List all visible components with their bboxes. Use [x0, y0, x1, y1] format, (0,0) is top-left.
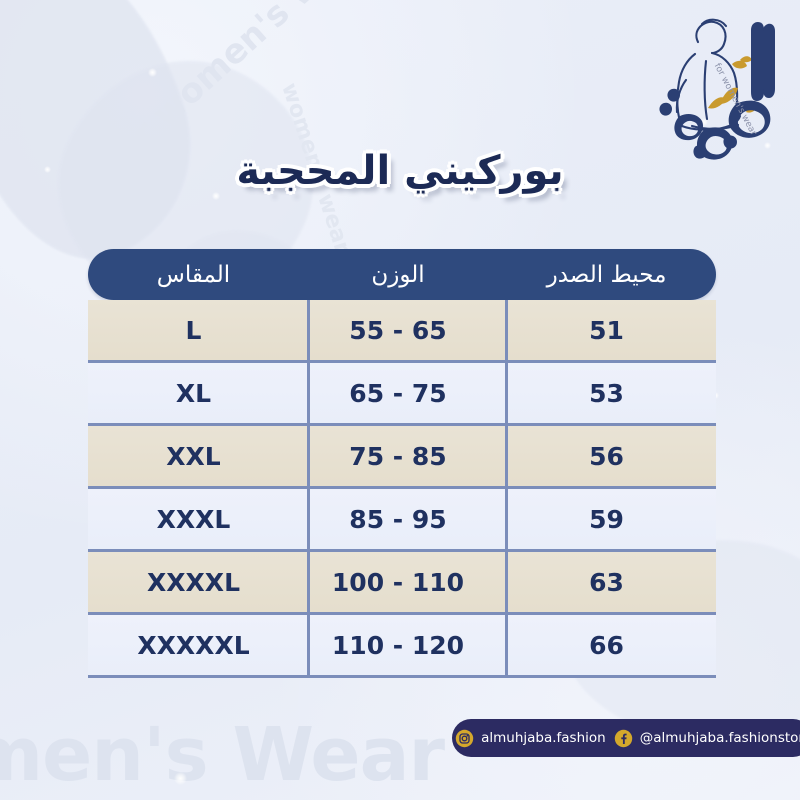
cell-chest: 66 [497, 631, 716, 660]
table-header-row: محيط الصدر الوزن المقاس [88, 249, 716, 300]
column-header-chest: محيط الصدر [497, 262, 716, 288]
column-header-weight: الوزن [299, 262, 497, 288]
table-row: 63 110 - 100 XXXXL [88, 552, 716, 615]
table-row: 56 85 - 75 XXL [88, 426, 716, 489]
cell-weight: 120 - 110 [299, 631, 497, 660]
cell-chest: 56 [497, 442, 716, 471]
cell-weight: 95 - 85 [299, 505, 497, 534]
cell-weight: 65 - 55 [299, 316, 497, 345]
cell-chest: 63 [497, 568, 716, 597]
facebook-link[interactable]: @almuhjaba.fashionstore [614, 729, 800, 748]
column-header-size: المقاس [88, 262, 299, 288]
instagram-link[interactable]: almuhjaba.fashion [455, 729, 606, 748]
cell-chest: 59 [497, 505, 716, 534]
cell-weight: 75 - 65 [299, 379, 497, 408]
cell-size: XXXXL [88, 568, 299, 597]
size-chart-table: محيط الصدر الوزن المقاس 51 65 - 55 L 53 … [88, 249, 716, 678]
table-row: 53 75 - 65 XL [88, 363, 716, 426]
brand-logo: for women's wear [640, 8, 786, 160]
facebook-icon [614, 729, 633, 748]
table-body: 51 65 - 55 L 53 75 - 65 XL 56 85 - 75 XX… [88, 300, 716, 678]
cell-size: XXXXXL [88, 631, 299, 660]
cell-weight: 110 - 100 [299, 568, 497, 597]
instagram-handle: almuhjaba.fashion [481, 730, 606, 746]
cell-chest: 51 [497, 316, 716, 345]
table-row: 66 120 - 110 XXXXXL [88, 615, 716, 678]
table-row: 51 65 - 55 L [88, 300, 716, 363]
cell-size: XL [88, 379, 299, 408]
cell-chest: 53 [497, 379, 716, 408]
facebook-handle: @almuhjaba.fashionstore [640, 730, 800, 746]
background-wordmark: men's Wear [0, 712, 444, 798]
instagram-icon [455, 729, 474, 748]
column-divider [307, 300, 310, 678]
social-links-bar: @almuhjaba.fashionstore almuhjaba.fashio… [452, 719, 800, 757]
cell-size: XXL [88, 442, 299, 471]
cell-size: XXXL [88, 505, 299, 534]
cell-weight: 85 - 75 [299, 442, 497, 471]
column-divider [505, 300, 508, 678]
table-row: 59 95 - 85 XXXL [88, 489, 716, 552]
cell-size: L [88, 316, 299, 345]
page-title: بوركيني المحجبة [0, 148, 800, 194]
